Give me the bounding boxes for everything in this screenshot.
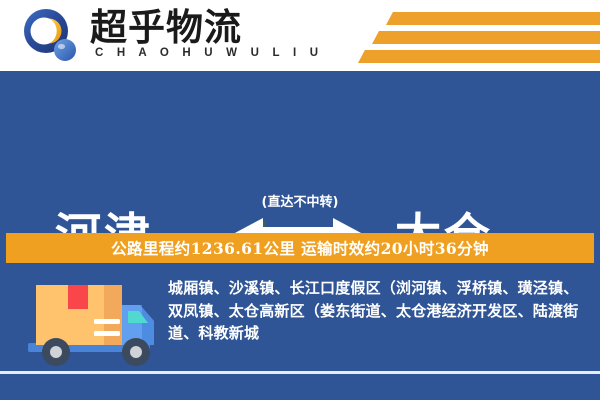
distance-duration-text: 公路里程约1236.61公里 运输时效约20小时36分钟 bbox=[111, 237, 489, 259]
logistics-route-banner: 超乎物流 C H A O H U W U L I U 河津 太仓 (直达不中转)… bbox=[0, 0, 600, 400]
brand-name-en: C H A O H U W U L I U bbox=[95, 47, 323, 59]
decorative-stripe-2 bbox=[372, 31, 600, 44]
distance-duration-bar: 公路里程约1236.61公里 运输时效约20小时36分钟 bbox=[6, 233, 594, 263]
route-section: 河津 太仓 (直达不中转) 【往返运输】 bbox=[0, 71, 600, 232]
brand-name-cn: 超乎物流 bbox=[90, 6, 242, 48]
decorative-stripe-1 bbox=[386, 12, 600, 25]
delivery-truck-icon bbox=[22, 277, 162, 382]
road-divider-line bbox=[0, 371, 600, 374]
decorative-stripe-3 bbox=[358, 50, 600, 63]
coverage-area-text: 城厢镇、沙溪镇、长江口度假区（浏河镇、浮桥镇、璜泾镇、双凤镇、太仓高新区（娄东街… bbox=[168, 277, 590, 345]
circle-q-logo-icon bbox=[22, 8, 78, 64]
direct-service-label: (直达不中转) bbox=[233, 191, 367, 210]
coverage-section: 城厢镇、沙溪镇、长江口度假区（浏河镇、浮桥镇、璜泾镇、双凤镇、太仓高新区（娄东街… bbox=[0, 263, 600, 400]
banner-header: 超乎物流 C H A O H U W U L I U bbox=[0, 0, 600, 71]
